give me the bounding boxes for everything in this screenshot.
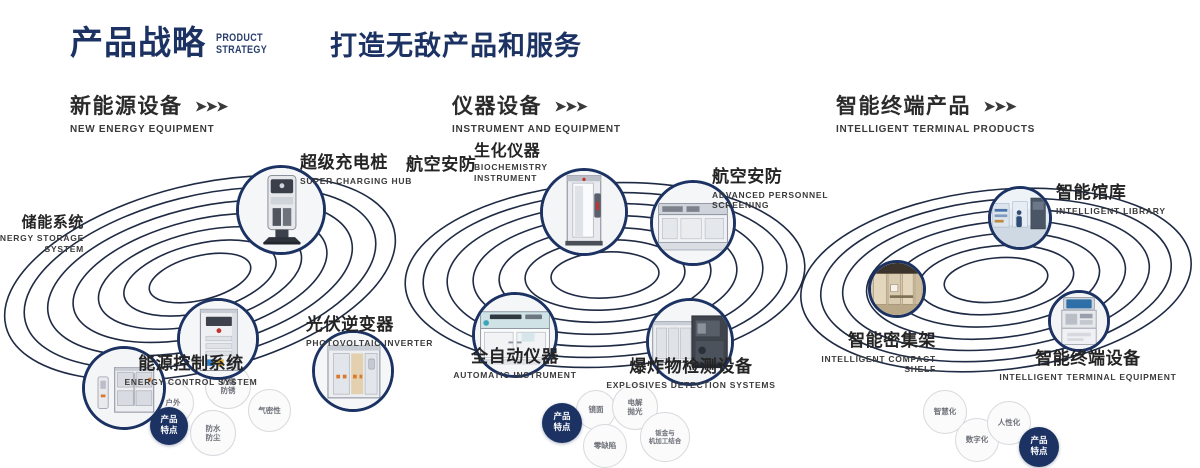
feature-bubble-text-2: 抛光 xyxy=(628,407,643,416)
feature-bubble-text: 零缺陷 xyxy=(594,441,617,450)
poster-header: 产品战略 PRODUCT STRATEGY xyxy=(70,26,278,59)
node-label-en-2: SYSTEM xyxy=(0,244,84,255)
node-label-cn: 智能密集架 xyxy=(756,332,936,352)
node-label-en: BIOCHEMISTRY xyxy=(474,162,548,173)
feature-bubble-text: 电解 xyxy=(628,398,643,407)
node-label-en: INTELLIGENT COMPACT xyxy=(756,354,936,365)
node-label-cn: 储能系统 xyxy=(0,214,84,231)
node-label-energy-control-system: 能源控制系统 ENERGY CONTROL SYSTEM xyxy=(76,355,306,387)
feature-bubble: 零缺陷 xyxy=(583,424,627,468)
panel-intelligent-terminal: 智慧化 数字化 人性化 产品 特点 xyxy=(800,150,1200,400)
node-label-en: INTELLIGENT LIBRARY xyxy=(1056,206,1166,217)
feature-bubble-text-2: 机加工结合 xyxy=(649,437,682,445)
feature-bubble-text: 数字化 xyxy=(966,435,989,444)
library-room-icon xyxy=(991,189,1049,247)
node-label-cn: 生化仪器 xyxy=(474,142,548,160)
node-label-cn: 智能馆库 xyxy=(1056,184,1166,204)
node-label-intelligent-terminal-equipment: 智能终端设备 INTELLIGENT TERMINAL EQUIPMENT xyxy=(978,350,1198,382)
feature-bubble-text-2: 防锈 xyxy=(221,386,236,395)
header-title-cn: 产品战略 xyxy=(70,26,206,59)
section-title-en: INTELLIGENT TERMINAL PRODUCTS xyxy=(836,124,1035,135)
node-label-biochemistry-instrument: 生化仪器 BIOCHEMISTRY INSTRUMENT xyxy=(474,142,548,184)
header-title-en-line2: STRATEGY xyxy=(216,45,267,57)
panel-instrument: 镜面 电解 抛光 钣金与 机加工结合 零缺陷 产品 特点 xyxy=(400,150,810,400)
header-title-en: PRODUCT STRATEGY xyxy=(216,33,267,57)
feature-bubble-text: 镜面 xyxy=(589,405,604,414)
center-badge-line1: 产品 xyxy=(160,415,177,426)
feature-bubble-text-2: 防尘 xyxy=(206,433,221,442)
poster-canvas: 产品战略 PRODUCT STRATEGY 打造无敌产品和服务 新能源设备 ➤➤… xyxy=(0,0,1200,422)
section-title-en: NEW ENERGY EQUIPMENT xyxy=(70,124,227,135)
section-title-intelligent-terminal: 智能终端产品 ➤➤➤ INTELLIGENT TERMINAL PRODUCTS xyxy=(836,96,1035,135)
feature-bubble: 气密性 xyxy=(248,389,291,432)
node-label-en: INTELLIGENT TERMINAL EQUIPMENT xyxy=(978,372,1198,383)
center-badge-line2: 特点 xyxy=(1030,447,1047,458)
section-title-instrument: 仪器设备 ➤➤➤ INSTRUMENT AND EQUIPMENT xyxy=(452,96,621,135)
feature-bubble-text: 气密性 xyxy=(258,406,281,415)
chevron-right-icon: ➤➤➤ xyxy=(195,98,227,115)
feature-bubble: 钣金与 机加工结合 xyxy=(640,412,690,462)
node-label-aviation-security-left: 航空安防 xyxy=(406,156,476,176)
center-badge-line2: 特点 xyxy=(160,426,177,437)
node-label-cn: 超级充电桩 xyxy=(300,154,412,174)
feature-bubble: 防水 防尘 xyxy=(190,410,236,456)
node-label-en-2: SHELF xyxy=(756,364,936,375)
node-biochemistry-instrument[interactable] xyxy=(540,168,628,256)
center-badge: 产品 特点 xyxy=(542,403,582,443)
center-badge-line1: 产品 xyxy=(1030,436,1047,447)
center-badge-line1: 产品 xyxy=(553,412,570,423)
node-label-energy-storage-system: 储能系统 ENERGY STORAGE SYSTEM xyxy=(0,214,84,255)
node-label-en: ENERGY CONTROL SYSTEM xyxy=(76,377,306,388)
section-title-cn: 智能终端产品 xyxy=(836,96,971,117)
security-scanner-icon xyxy=(543,171,625,253)
node-label-cn: 能源控制系统 xyxy=(76,355,306,375)
node-label-en: SUPER CHARGING HUB xyxy=(300,176,412,187)
section-title-cn: 新能源设备 xyxy=(70,96,183,117)
node-label-super-charging-hub: 超级充电桩 SUPER CHARGING HUB xyxy=(300,154,412,186)
node-intelligent-terminal-equipment[interactable] xyxy=(1048,290,1110,352)
center-badge: 产品 特点 xyxy=(1019,427,1059,467)
node-label-en: EXPLOSIVES DETECTION SYSTEMS xyxy=(576,380,806,391)
feature-bubble-text: 防水 xyxy=(206,424,221,433)
chevron-right-icon: ➤➤➤ xyxy=(983,98,1015,115)
feature-bubble-text: 智慧化 xyxy=(934,407,957,416)
feature-bubble-text: 钣金与 xyxy=(649,429,682,437)
node-label-intelligent-library: 智能馆库 INTELLIGENT LIBRARY xyxy=(1056,184,1166,216)
center-badge-line2: 特点 xyxy=(553,423,570,434)
section-title-en: INSTRUMENT AND EQUIPMENT xyxy=(452,124,621,135)
node-intelligent-library[interactable] xyxy=(988,186,1052,250)
node-label-en-2: INSTRUMENT xyxy=(474,173,548,184)
compact-shelf-icon xyxy=(871,263,923,315)
section-title-new-energy: 新能源设备 ➤➤➤ NEW ENERGY EQUIPMENT xyxy=(70,96,227,135)
node-label-cn: 智能终端设备 xyxy=(978,350,1198,370)
node-label-intelligent-compact-shelf: 智能密集架 INTELLIGENT COMPACT SHELF xyxy=(756,332,936,375)
header-slogan: 打造无敌产品和服务 xyxy=(330,33,582,60)
feature-bubble-text: 人性化 xyxy=(998,418,1021,427)
node-label-en: ENERGY STORAGE xyxy=(0,233,84,244)
chevron-right-icon: ➤➤➤ xyxy=(554,98,586,115)
node-label-cn: 航空安防 xyxy=(406,156,476,176)
kiosk-terminal-icon xyxy=(1051,293,1107,349)
panel-new-energy: 户外 防腐 防锈 防水 防尘 气密性 产品 特点 xyxy=(0,150,400,400)
node-intelligent-compact-shelf[interactable] xyxy=(868,260,926,318)
section-title-cn: 仪器设备 xyxy=(452,96,542,117)
